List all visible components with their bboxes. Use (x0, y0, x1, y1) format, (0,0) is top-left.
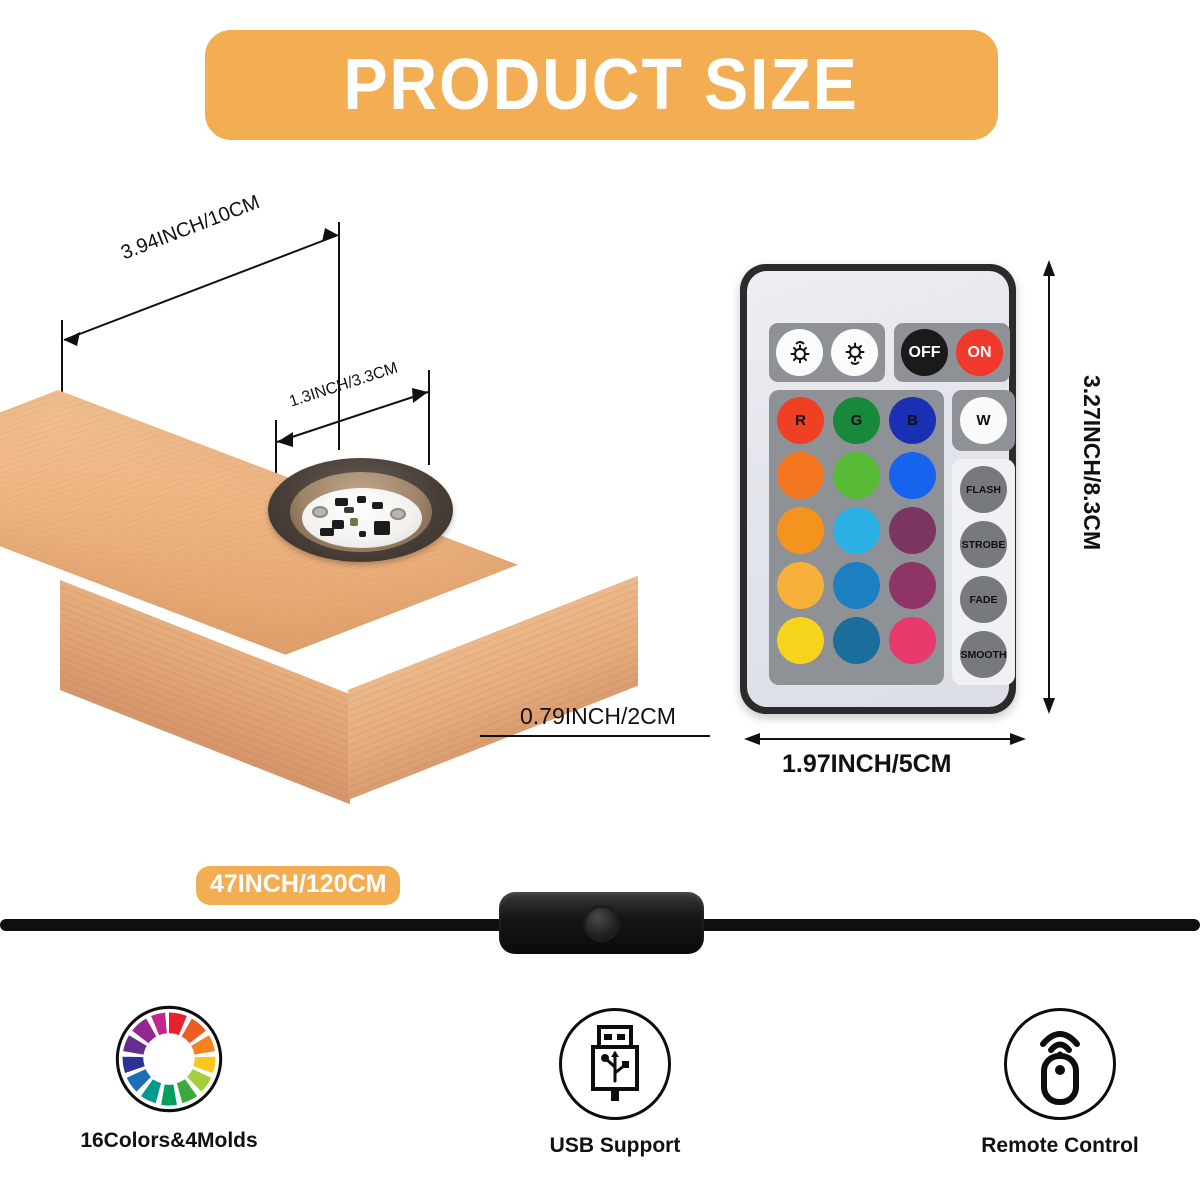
brightness-group (769, 323, 885, 382)
mode-button-group: FLASH STROBE FADE SMOOTH (952, 459, 1015, 685)
remote-faceplate: OFF ON R G B (747, 271, 1009, 707)
color-button-grid: R G B (769, 390, 944, 685)
power-off-button[interactable]: OFF (901, 329, 948, 376)
mode-button-strobe[interactable]: STROBE (960, 521, 1007, 568)
color-button-blue1[interactable] (889, 452, 936, 499)
remote-height-label: 3.27INCH/8.3CM (1078, 375, 1105, 550)
color-button-green1[interactable] (833, 452, 880, 499)
recess-wall (290, 472, 432, 552)
brightness-down-icon (840, 338, 870, 368)
product-size-banner: PRODUCT SIZE (205, 30, 998, 140)
led-recess (268, 458, 453, 562)
color-button-r[interactable]: R (777, 397, 824, 444)
mode-button-flash[interactable]: FLASH (960, 466, 1007, 513)
white-button-group: W (952, 390, 1015, 451)
led-pcb (302, 488, 422, 548)
usb-icon-frame (559, 1008, 671, 1120)
color-wheel-frame (113, 1003, 225, 1115)
color-button-blue3[interactable] (833, 617, 880, 664)
remote-main-area: R G B (769, 390, 987, 685)
color-button-purple1[interactable] (889, 507, 936, 554)
feature-remote-caption: Remote Control (930, 1134, 1190, 1158)
remote-width-label: 1.97INCH/5CM (782, 750, 952, 779)
color-button-purple2[interactable] (889, 562, 936, 609)
color-button-amber[interactable] (777, 562, 824, 609)
color-wheel-icon (113, 994, 225, 1124)
feature-remote: Remote Control (930, 1008, 1190, 1158)
feature-usb: USB Support (485, 1008, 745, 1158)
remote-top-row: OFF ON (769, 323, 987, 382)
cable-length-badge: 47INCH/120CM (196, 866, 400, 905)
remote-icon-frame (1004, 1008, 1116, 1120)
brightness-down-button[interactable] (831, 329, 878, 376)
color-button-orange1[interactable] (777, 452, 824, 499)
color-button-orange2[interactable] (777, 507, 824, 554)
infographic-canvas: PRODUCT SIZE 3.94INCH/10CM 1.3INCH/3.3CM (0, 0, 1200, 1200)
brightness-up-button[interactable] (776, 329, 823, 376)
feature-colors-caption: 16Colors&4Molds (39, 1129, 299, 1153)
color-button-yellow[interactable] (777, 617, 824, 664)
color-button-pink[interactable] (889, 617, 936, 664)
mode-button-fade[interactable]: FADE (960, 576, 1007, 623)
feature-usb-caption: USB Support (485, 1134, 745, 1158)
power-on-button[interactable]: ON (956, 329, 1003, 376)
color-button-cyan1[interactable] (833, 507, 880, 554)
brightness-up-icon (785, 338, 815, 368)
power-group: OFF ON (894, 323, 1010, 382)
inline-power-switch[interactable] (499, 892, 704, 954)
feature-colors: 16Colors&4Molds (39, 1003, 299, 1153)
switch-button[interactable] (583, 905, 620, 942)
remote-height-dimension (1035, 258, 1065, 718)
color-button-b[interactable]: B (889, 397, 936, 444)
base-thickness-label: 0.79INCH/2CM (520, 703, 676, 730)
remote-control-device: OFF ON R G B (740, 264, 1016, 714)
page-title: PRODUCT SIZE (344, 44, 859, 126)
color-button-g[interactable]: G (833, 397, 880, 444)
color-button-w[interactable]: W (960, 397, 1007, 444)
color-button-blue2[interactable] (833, 562, 880, 609)
remote-side-panel: W FLASH STROBE FADE SMOOTH (952, 390, 1015, 685)
usb-plug-icon (579, 1023, 651, 1105)
remote-signal-icon (1025, 1022, 1095, 1106)
mode-button-smooth[interactable]: SMOOTH (960, 631, 1007, 678)
